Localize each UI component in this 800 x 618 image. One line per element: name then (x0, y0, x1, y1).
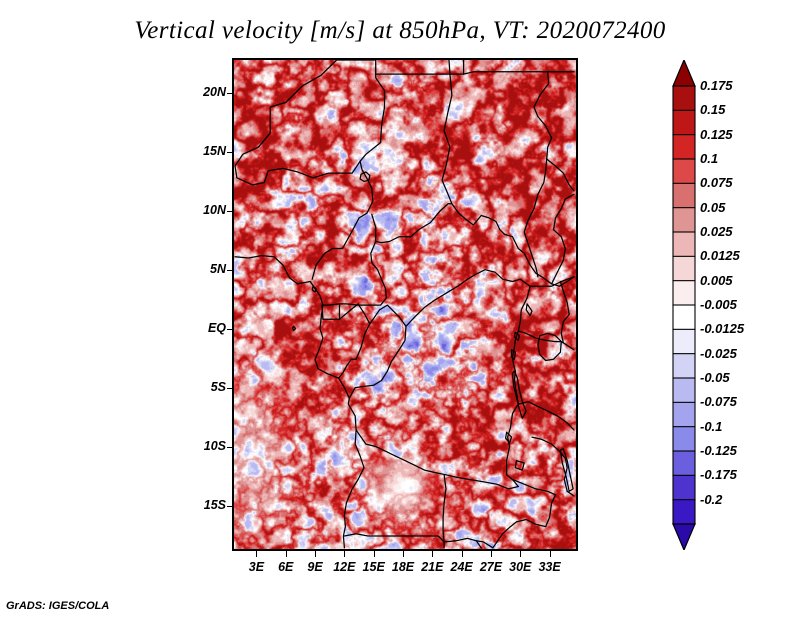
latitude-tick-label: 15N (196, 144, 226, 158)
colorbar-tick-label: 0.15 (700, 103, 725, 116)
longitude-tick-mark (550, 551, 551, 557)
longitude-tick-label: 33E (530, 560, 570, 574)
longitude-tick-mark (403, 551, 404, 557)
latitude-tick-label: 15S (196, 498, 226, 512)
grads-plot-page: Vertical velocity [m/s] at 850hPa, VT: 2… (0, 0, 800, 618)
colorbar-swatch (673, 500, 695, 525)
longitude-tick-mark (256, 551, 257, 557)
colorbar-swatch (673, 329, 695, 354)
latitude-tick-mark (227, 388, 233, 389)
colorbar-swatch (673, 86, 695, 111)
colorbar-tick-label: 0.0125 (700, 249, 740, 262)
latitude-tick-label: EQ (196, 321, 226, 335)
latitude-tick-mark (227, 152, 233, 153)
colorbar-tick-label: -0.0125 (700, 322, 744, 335)
colorbar-swatch (673, 281, 695, 306)
colorbar-swatch (673, 427, 695, 452)
colorbar-tick-label: 0.05 (700, 201, 725, 214)
longitude-tick-mark (462, 551, 463, 557)
colorbar-tick-label: 0.005 (700, 274, 733, 287)
colorbar-swatch (673, 378, 695, 403)
longitude-tick-mark (315, 551, 316, 557)
colorbar-swatch (673, 159, 695, 184)
colorbar-swatch (673, 183, 695, 208)
colorbar[interactable] (672, 60, 696, 550)
longitude-tick-mark (520, 551, 521, 557)
longitude-tick-mark (491, 551, 492, 557)
longitude-tick-mark (374, 551, 375, 557)
colorbar-swatch (673, 232, 695, 257)
colorbar-swatches (672, 60, 696, 550)
longitude-tick-mark (344, 551, 345, 557)
attribution-footer: GrADS: IGES/COLA (6, 600, 109, 612)
colorbar-tick-label: -0.125 (700, 444, 737, 457)
colorbar-tick-label: 0.025 (700, 225, 733, 238)
latitude-tick-label: 10N (196, 203, 226, 217)
page-title: Vertical velocity [m/s] at 850hPa, VT: 2… (0, 17, 800, 45)
longitude-tick-mark (286, 551, 287, 557)
latitude-tick-mark (227, 329, 233, 330)
colorbar-swatch (673, 354, 695, 379)
colorbar-extend-low (673, 524, 695, 550)
latitude-tick-mark (227, 270, 233, 271)
latitude-tick-mark (227, 506, 233, 507)
latitude-tick-mark (227, 93, 233, 94)
latitude-tick-label: 10S (196, 439, 226, 453)
colorbar-swatch (673, 135, 695, 160)
colorbar-swatch (673, 305, 695, 330)
latitude-tick-mark (227, 447, 233, 448)
colorbar-tick-label: -0.05 (700, 371, 730, 384)
colorbar-tick-label: 0.1 (700, 152, 718, 165)
colorbar-tick-label: -0.005 (700, 298, 737, 311)
colorbar-tick-label: -0.025 (700, 347, 737, 360)
latitude-tick-label: 5N (196, 262, 226, 276)
colorbar-tick-label: -0.075 (700, 395, 737, 408)
colorbar-swatch (673, 208, 695, 233)
colorbar-tick-label: -0.2 (700, 493, 722, 506)
latitude-tick-label: 20N (196, 85, 226, 99)
colorbar-swatch (673, 475, 695, 500)
latitude-tick-mark (227, 211, 233, 212)
colorbar-extend-high (673, 60, 695, 86)
longitude-tick-mark (432, 551, 433, 557)
colorbar-tick-label: -0.1 (700, 420, 722, 433)
map-panel[interactable] (232, 58, 578, 551)
colorbar-swatch (673, 256, 695, 281)
colorbar-tick-label: 0.125 (700, 128, 733, 141)
colorbar-swatch (673, 110, 695, 135)
colorbar-tick-label: 0.175 (700, 79, 733, 92)
colorbar-swatch (673, 402, 695, 427)
colorbar-swatch (673, 451, 695, 476)
latitude-tick-label: 5S (196, 380, 226, 394)
colorbar-tick-label: -0.175 (700, 468, 737, 481)
vertical-velocity-heatmap (234, 60, 576, 549)
colorbar-tick-label: 0.075 (700, 176, 733, 189)
